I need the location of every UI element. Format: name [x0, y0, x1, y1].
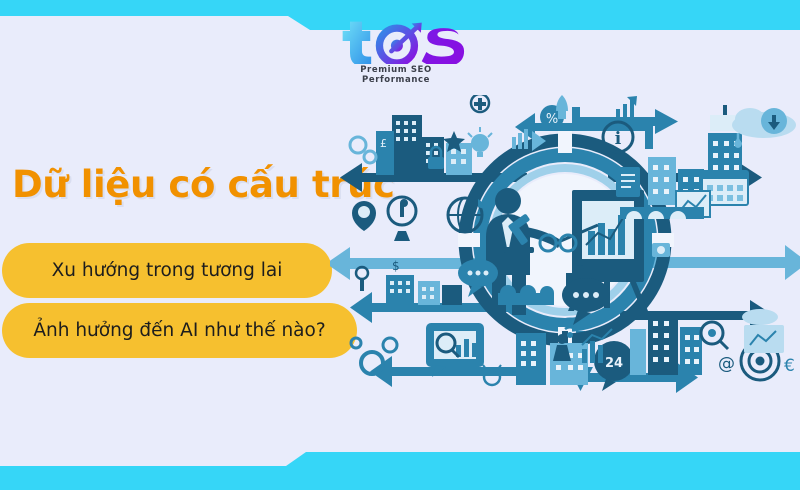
at-glyph-icon: @ [718, 354, 735, 374]
euro-glyph-label: € [784, 356, 795, 376]
info-glyph-label: i [615, 129, 622, 149]
bridge-icon [498, 285, 554, 305]
highlight-pill-trend[interactable]: Xu hướng trong tương lai [2, 243, 332, 298]
brand-logo[interactable]: Premium SEO Performance [326, 18, 466, 85]
document-icon [616, 167, 640, 197]
infographic-illustration: .dk{fill:#1b5b7e}.md{fill:#2b83ad}.lt{fi… [330, 95, 800, 415]
pound-glyph: £ [380, 137, 387, 150]
euro-glyph-icon: € [784, 356, 795, 376]
at-glyph-label: @ [718, 354, 735, 374]
pin-bulb-icon [352, 201, 376, 231]
gear-icon-left [350, 137, 376, 163]
poster-canvas: Premium SEO Performance Dữ liệu có cấu t… [0, 0, 800, 490]
highlight-pill-trend-label: Xu hướng trong tương lai [52, 260, 283, 281]
trend-up-icon [616, 96, 637, 119]
right-lower-buildings [630, 313, 702, 375]
percent-glyph-label: % [546, 112, 558, 127]
photo-icon [652, 243, 670, 257]
highlight-pill-ai-impact-label: Ảnh hưởng đến AI như thế nào? [33, 320, 325, 341]
tos-logo-icon [326, 18, 466, 64]
presentation-board-icon [742, 309, 784, 353]
magnifier-bottom-icon [701, 322, 728, 349]
dollar-glyph: $ [392, 259, 400, 273]
brand-tagline: Premium SEO Performance [326, 65, 466, 85]
highlight-pill-ai-impact[interactable]: Ảnh hưởng đến AI như thế nào? [2, 303, 357, 358]
plus-badge-icon [471, 95, 489, 112]
bottom-decorative-bar [0, 442, 800, 490]
arch-bridge-right [620, 207, 704, 219]
